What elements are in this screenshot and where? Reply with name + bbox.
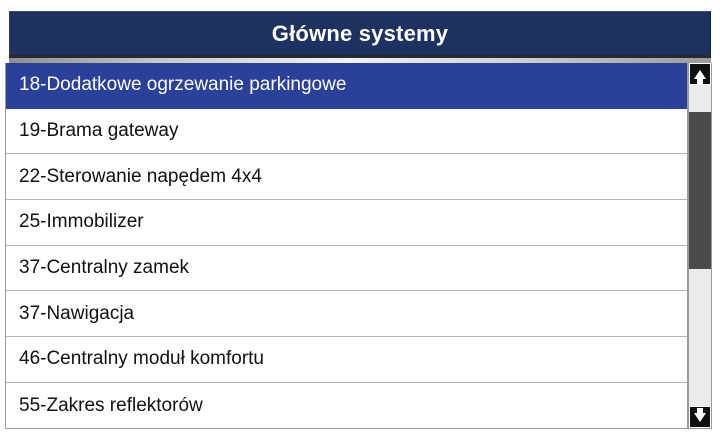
scroll-up-arrow-icon — [694, 70, 706, 79]
window-title-bar: Główne systemy — [9, 11, 711, 55]
scrollbar-thumb[interactable] — [689, 112, 711, 269]
list-item-label: 18-Dodatkowe ogrzewanie parkingowe — [19, 74, 346, 96]
list-item-label: 37-Centralny zamek — [19, 257, 189, 279]
list-item[interactable]: 37-Centralny zamek — [6, 246, 687, 292]
systems-list[interactable]: 18-Dodatkowe ogrzewanie parkingowe19-Bra… — [5, 63, 688, 429]
app-window: Główne systemy 18-Dodatkowe ogrzewanie p… — [0, 0, 720, 443]
list-item[interactable]: 46-Centralny moduł komfortu — [6, 337, 687, 383]
list-item-label: 19-Brama gateway — [19, 120, 178, 142]
list-item-label: 25-Immobilizer — [19, 211, 144, 233]
list-item-label: 37-Nawigacja — [19, 303, 134, 325]
scrollbar-track[interactable] — [689, 85, 711, 406]
list-item-label: 46-Centralny moduł komfortu — [19, 348, 264, 370]
list-item[interactable]: 18-Dodatkowe ogrzewanie parkingowe — [6, 63, 687, 109]
list-item[interactable]: 19-Brama gateway — [6, 109, 687, 155]
list-item-label: 22-Sterowanie napędem 4x4 — [19, 166, 262, 188]
list-item[interactable]: 37-Nawigacja — [6, 291, 687, 337]
list-scrollbar[interactable] — [688, 63, 712, 429]
page-title: Główne systemy — [272, 23, 448, 45]
list-item-label: 55-Zakres reflektorów — [19, 395, 203, 417]
list-item[interactable]: 25-Immobilizer — [6, 200, 687, 246]
scroll-up-button[interactable] — [689, 63, 711, 85]
list-item[interactable]: 22-Sterowanie napędem 4x4 — [6, 154, 687, 200]
list-item[interactable]: 55-Zakres reflektorów — [6, 383, 687, 429]
scroll-down-button[interactable] — [689, 406, 711, 428]
scroll-down-arrow-icon — [694, 413, 706, 422]
